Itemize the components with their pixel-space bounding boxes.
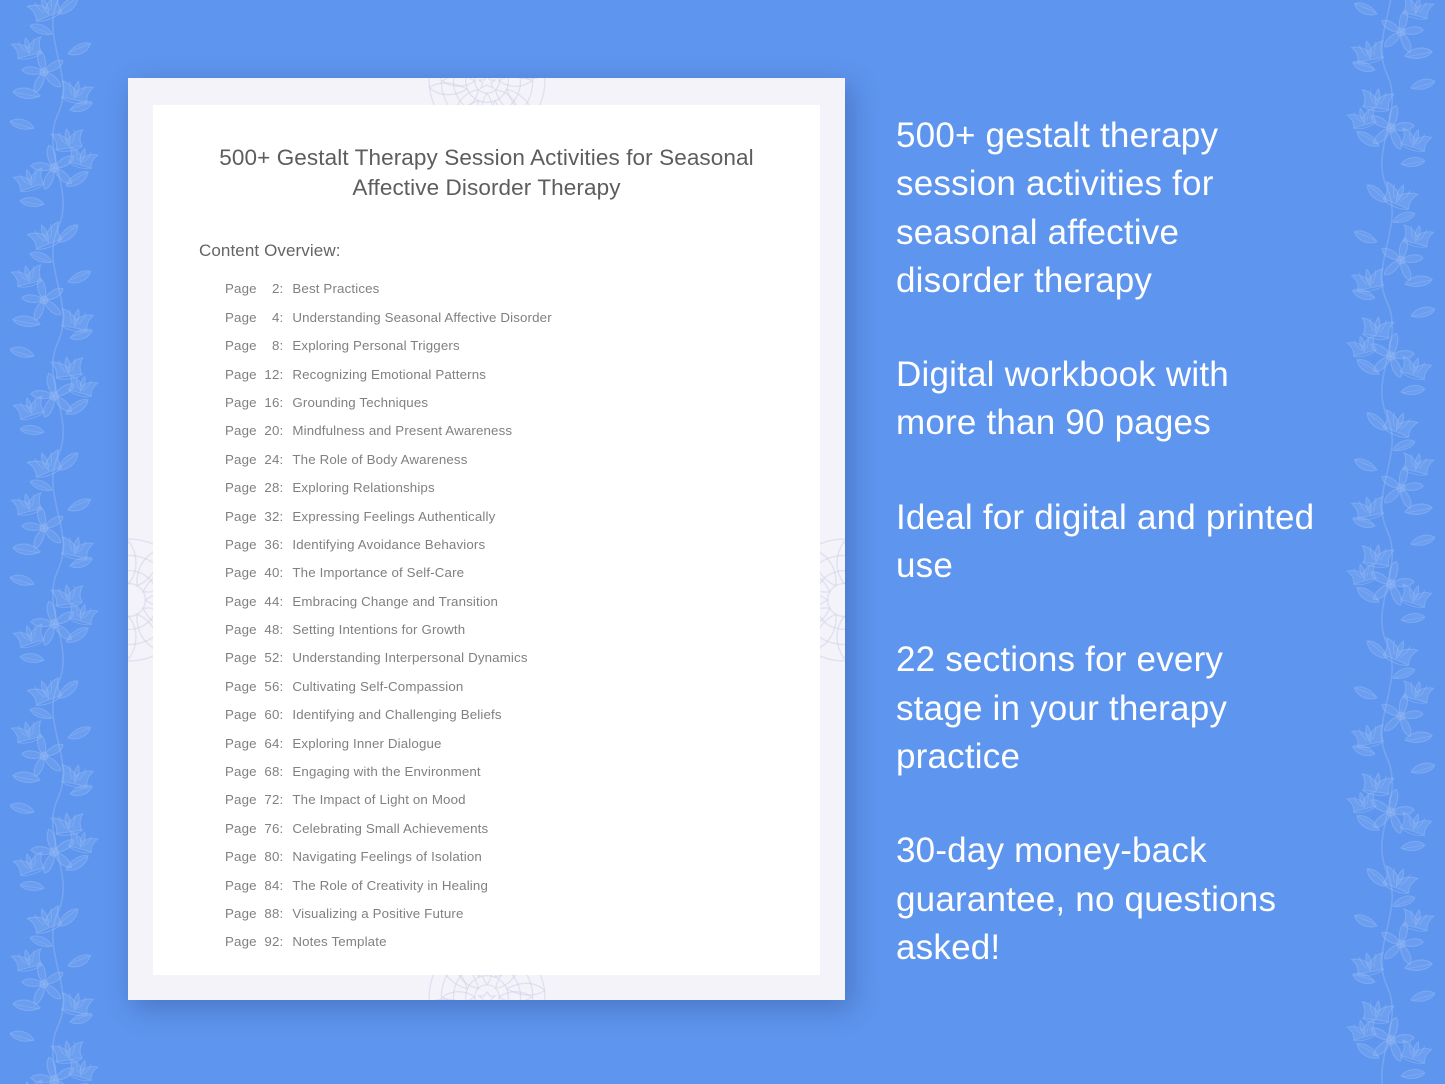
toc-section-title: The Importance of Self-Care bbox=[292, 566, 464, 579]
floral-vine-border-left bbox=[0, 0, 132, 1084]
toc-page-number: 92 bbox=[261, 935, 280, 948]
toc-colon: : bbox=[280, 850, 293, 863]
workbook-preview-card: 500+ Gestalt Therapy Session Activities … bbox=[128, 78, 845, 1000]
toc-section-title: Recognizing Emotional Patterns bbox=[292, 368, 486, 381]
toc-page-word: Page bbox=[225, 850, 257, 863]
list-item: Page 4:Understanding Seasonal Affective … bbox=[225, 311, 820, 324]
toc-page-word: Page bbox=[225, 708, 257, 721]
toc-section-title: Exploring Personal Triggers bbox=[292, 339, 459, 352]
toc-page-number: 80 bbox=[261, 850, 280, 863]
toc-page-word: Page bbox=[225, 424, 257, 437]
list-item: Page 24:The Role of Body Awareness bbox=[225, 453, 820, 466]
toc-page-word: Page bbox=[225, 765, 257, 778]
list-item: Page 56:Cultivating Self-Compassion bbox=[225, 680, 820, 693]
list-item: Page 32:Expressing Feelings Authenticall… bbox=[225, 510, 820, 523]
toc-colon: : bbox=[280, 793, 293, 806]
toc-page-number: 56 bbox=[261, 680, 280, 693]
toc-page-number: 16 bbox=[261, 396, 280, 409]
toc-page-number: 36 bbox=[261, 538, 280, 551]
toc-colon: : bbox=[280, 453, 293, 466]
page-title: 500+ Gestalt Therapy Session Activities … bbox=[153, 105, 820, 202]
promo-block: 30-day money-back guarantee, no question… bbox=[896, 827, 1316, 972]
promo-copy-panel: 500+ gestalt therapy session activities … bbox=[896, 112, 1316, 972]
toc-colon: : bbox=[280, 822, 293, 835]
toc-colon: : bbox=[280, 907, 293, 920]
toc-page-word: Page bbox=[225, 368, 257, 381]
toc-section-title: Navigating Feelings of Isolation bbox=[292, 850, 482, 863]
toc-page-number: 4 bbox=[261, 311, 280, 324]
toc-colon: : bbox=[280, 680, 293, 693]
list-item: Page 68:Engaging with the Environment bbox=[225, 765, 820, 778]
toc-page-word: Page bbox=[225, 737, 257, 750]
toc-page-number: 28 bbox=[261, 481, 280, 494]
toc-page-word: Page bbox=[225, 396, 257, 409]
toc-colon: : bbox=[280, 737, 293, 750]
toc-page-number: 76 bbox=[261, 822, 280, 835]
toc-page-number: 8 bbox=[261, 339, 280, 352]
toc-colon: : bbox=[280, 708, 293, 721]
toc-section-title: Best Practices bbox=[292, 282, 379, 295]
list-item: Page 2:Best Practices bbox=[225, 282, 820, 295]
toc-section-title: Notes Template bbox=[292, 935, 386, 948]
toc-colon: : bbox=[280, 339, 293, 352]
toc-colon: : bbox=[280, 481, 293, 494]
toc-page-number: 44 bbox=[261, 595, 280, 608]
list-item: Page 76:Celebrating Small Achievements bbox=[225, 822, 820, 835]
list-item: Page 20:Mindfulness and Present Awarenes… bbox=[225, 424, 820, 437]
toc-colon: : bbox=[280, 396, 293, 409]
toc-page-word: Page bbox=[225, 538, 257, 551]
toc-section-title: Understanding Seasonal Affective Disorde… bbox=[292, 311, 551, 324]
list-item: Page 48:Setting Intentions for Growth bbox=[225, 623, 820, 636]
toc-section-title: Mindfulness and Present Awareness bbox=[292, 424, 512, 437]
toc-section-title: Grounding Techniques bbox=[292, 396, 428, 409]
toc-page-word: Page bbox=[225, 481, 257, 494]
toc-page-word: Page bbox=[225, 793, 257, 806]
toc-page-number: 72 bbox=[261, 793, 280, 806]
toc-page-word: Page bbox=[225, 311, 257, 324]
toc-section-title: Setting Intentions for Growth bbox=[292, 623, 465, 636]
toc-colon: : bbox=[280, 623, 293, 636]
toc-section-title: Visualizing a Positive Future bbox=[292, 907, 463, 920]
toc-section-title: Exploring Relationships bbox=[292, 481, 434, 494]
toc-section-title: Engaging with the Environment bbox=[292, 765, 480, 778]
toc-colon: : bbox=[280, 651, 293, 664]
toc-section-title: The Impact of Light on Mood bbox=[292, 793, 465, 806]
list-item: Page 40:The Importance of Self-Care bbox=[225, 566, 820, 579]
toc-page-number: 48 bbox=[261, 623, 280, 636]
toc-page-word: Page bbox=[225, 339, 257, 352]
toc-colon: : bbox=[280, 311, 293, 324]
list-item: Page 64:Exploring Inner Dialogue bbox=[225, 737, 820, 750]
toc-page-word: Page bbox=[225, 510, 257, 523]
toc-page-number: 32 bbox=[261, 510, 280, 523]
toc-page-number: 2 bbox=[261, 282, 280, 295]
list-item: Page 60:Identifying and Challenging Beli… bbox=[225, 708, 820, 721]
toc-page-number: 20 bbox=[261, 424, 280, 437]
toc-section-title: Cultivating Self-Compassion bbox=[292, 680, 463, 693]
floral-vine-border-right bbox=[1313, 0, 1445, 1084]
toc-page-number: 60 bbox=[261, 708, 280, 721]
list-item: Page 92:Notes Template bbox=[225, 935, 820, 948]
toc-section-title: Celebrating Small Achievements bbox=[292, 822, 488, 835]
toc-section-title: The Role of Creativity in Healing bbox=[292, 879, 488, 892]
toc-page-word: Page bbox=[225, 935, 257, 948]
list-item: Page 52:Understanding Interpersonal Dyna… bbox=[225, 651, 820, 664]
toc-section-title: Identifying and Challenging Beliefs bbox=[292, 708, 501, 721]
list-item: Page 8:Exploring Personal Triggers bbox=[225, 339, 820, 352]
toc-page-number: 52 bbox=[261, 651, 280, 664]
promo-block: 500+ gestalt therapy session activities … bbox=[896, 112, 1316, 305]
toc-page-word: Page bbox=[225, 453, 257, 466]
toc-page-number: 12 bbox=[261, 368, 280, 381]
list-item: Page 84:The Role of Creativity in Healin… bbox=[225, 879, 820, 892]
list-item: Page 12:Recognizing Emotional Patterns bbox=[225, 368, 820, 381]
toc-page-number: 68 bbox=[261, 765, 280, 778]
toc-page-word: Page bbox=[225, 623, 257, 636]
toc-page-word: Page bbox=[225, 651, 257, 664]
list-item: Page 88:Visualizing a Positive Future bbox=[225, 907, 820, 920]
list-item: Page 28:Exploring Relationships bbox=[225, 481, 820, 494]
toc-colon: : bbox=[280, 879, 293, 892]
promo-block: 22 sections for every stage in your ther… bbox=[896, 636, 1316, 781]
list-item: Page 80:Navigating Feelings of Isolation bbox=[225, 850, 820, 863]
toc-colon: : bbox=[280, 424, 293, 437]
toc-colon: : bbox=[280, 510, 293, 523]
toc-colon: : bbox=[280, 935, 293, 948]
toc-page-number: 88 bbox=[261, 907, 280, 920]
toc-page-word: Page bbox=[225, 282, 257, 295]
toc-page-number: 40 bbox=[261, 566, 280, 579]
toc-page-number: 64 bbox=[261, 737, 280, 750]
content-overview-label: Content Overview: bbox=[153, 202, 820, 261]
list-item: Page 44:Embracing Change and Transition bbox=[225, 595, 820, 608]
toc-page-word: Page bbox=[225, 680, 257, 693]
toc-page-word: Page bbox=[225, 566, 257, 579]
list-item: Page 36:Identifying Avoidance Behaviors bbox=[225, 538, 820, 551]
toc-colon: : bbox=[280, 368, 293, 381]
toc-section-title: Expressing Feelings Authentically bbox=[292, 510, 495, 523]
toc-page-word: Page bbox=[225, 907, 257, 920]
toc-page-word: Page bbox=[225, 595, 257, 608]
toc-section-title: Exploring Inner Dialogue bbox=[292, 737, 441, 750]
toc-page-number: 84 bbox=[261, 879, 280, 892]
toc-section-title: Understanding Interpersonal Dynamics bbox=[292, 651, 527, 664]
toc-page-word: Page bbox=[225, 822, 257, 835]
table-of-contents: Page 2:Best PracticesPage 4:Understandin… bbox=[153, 261, 820, 948]
toc-colon: : bbox=[280, 282, 293, 295]
promo-block: Digital workbook with more than 90 pages bbox=[896, 351, 1316, 448]
list-item: Page 72:The Impact of Light on Mood bbox=[225, 793, 820, 806]
list-item: Page 16:Grounding Techniques bbox=[225, 396, 820, 409]
toc-section-title: Embracing Change and Transition bbox=[292, 595, 498, 608]
promo-block: Ideal for digital and printed use bbox=[896, 494, 1316, 591]
toc-colon: : bbox=[280, 595, 293, 608]
toc-section-title: The Role of Body Awareness bbox=[292, 453, 467, 466]
toc-colon: : bbox=[280, 765, 293, 778]
toc-page-number: 24 bbox=[261, 453, 280, 466]
toc-section-title: Identifying Avoidance Behaviors bbox=[292, 538, 485, 551]
toc-colon: : bbox=[280, 538, 293, 551]
toc-colon: : bbox=[280, 566, 293, 579]
workbook-page: 500+ Gestalt Therapy Session Activities … bbox=[153, 105, 820, 975]
toc-page-word: Page bbox=[225, 879, 257, 892]
